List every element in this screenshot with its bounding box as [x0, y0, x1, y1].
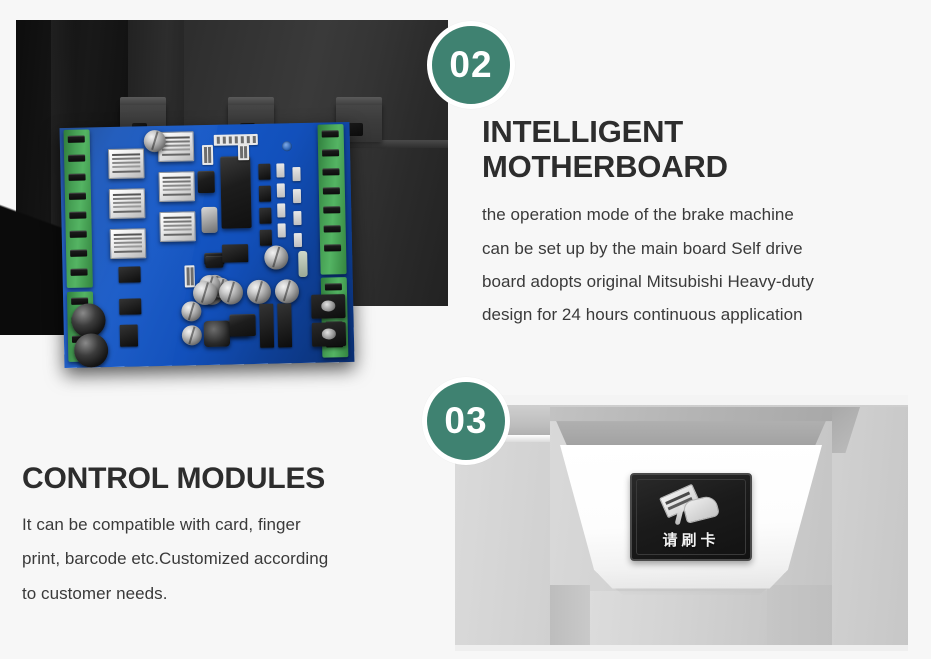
step-badge-02: 02: [427, 21, 515, 109]
section-03-body-line: print, barcode etc.Customized according: [22, 542, 422, 577]
section-03-body: It can be compatible with card, finger p…: [22, 508, 422, 613]
pin-header: [214, 134, 258, 146]
screw-terminal: [311, 294, 345, 319]
section-03-heading-line1: CONTROL MODULES: [22, 462, 422, 496]
soic-ic: [205, 256, 223, 268]
relay: [110, 228, 147, 259]
section-intelligent-motherboard: INTELLIGENT MOTHERBOARD the operation mo…: [482, 115, 902, 331]
transistor: [120, 324, 138, 346]
section-02-body-line: board adopts original Mitsubishi Heavy-d…: [482, 265, 902, 298]
terminal-block-left: [64, 129, 93, 288]
gate-pillar: [587, 591, 769, 651]
step-badge-02-number: 02: [449, 44, 492, 86]
pcb-board: [60, 122, 355, 368]
capacitor: [247, 280, 271, 304]
transistor: [258, 164, 270, 180]
pin-header: [238, 144, 249, 160]
small-ic: [197, 171, 214, 193]
section-02-body-line: the operation mode of the brake machine: [482, 198, 902, 231]
reader-label: 请刷卡: [662, 529, 719, 550]
section-02-heading-line2: MOTHERBOARD: [482, 150, 902, 185]
capacitor: [275, 279, 299, 303]
relay: [108, 148, 145, 179]
capacitor: [182, 325, 202, 345]
transistor: [259, 186, 271, 202]
resistor: [293, 189, 301, 203]
infographic-page: 02 INTELLIGENT MOTHERBOARD the operation…: [0, 0, 931, 659]
turnstile-photo: 请刷卡: [455, 395, 908, 651]
gate-floor-line: [455, 645, 908, 651]
soic-ic: [229, 314, 255, 337]
section-control-modules: CONTROL MODULES It can be compatible wit…: [22, 462, 422, 612]
resistor: [276, 163, 284, 177]
capacitor: [181, 301, 201, 321]
transistor: [118, 266, 140, 282]
capacitor: [219, 280, 243, 304]
transistor: [260, 230, 272, 246]
section-03-body-line: It can be compatible with card, finger: [22, 508, 422, 543]
section-02-body-line: can be set up by the main board Self dri…: [482, 232, 902, 265]
transistor: [119, 298, 141, 314]
resistor: [277, 203, 285, 217]
relay: [159, 211, 196, 242]
crystal-oscillator: [201, 207, 218, 233]
section-03-heading: CONTROL MODULES: [22, 462, 422, 496]
mounting-hole: [282, 141, 292, 151]
fuse: [298, 251, 308, 277]
transistor: [277, 303, 292, 347]
terminal-block-right: [318, 124, 347, 275]
resistor: [277, 183, 285, 197]
step-badge-03-number: 03: [444, 400, 487, 442]
voltage-regulator: [222, 244, 248, 263]
section-02-body: the operation mode of the brake machine …: [482, 198, 902, 331]
resistor: [278, 223, 286, 237]
transistor: [259, 208, 271, 224]
relay: [158, 171, 195, 202]
resistor: [293, 211, 301, 225]
resistor: [292, 167, 300, 181]
step-badge-03: 03: [422, 377, 510, 465]
transistor: [259, 304, 274, 348]
pin-header: [184, 265, 194, 287]
section-02-heading-line1: INTELLIGENT: [482, 115, 902, 150]
gate-column-right: [767, 585, 832, 651]
hand-swiping-card-icon: [660, 486, 722, 526]
pin-header: [202, 145, 213, 165]
dip-ic: [220, 156, 252, 229]
gate-column-left: [550, 585, 590, 651]
gate-left-wall: [455, 442, 551, 651]
section-03-body-line: to customer needs.: [22, 577, 422, 612]
resistor: [294, 233, 302, 247]
section-02-body-line: design for 24 hours continuous applicati…: [482, 298, 902, 331]
card-reader-panel[interactable]: 请刷卡: [630, 473, 752, 561]
section-02-heading: INTELLIGENT MOTHERBOARD: [482, 115, 902, 184]
relay: [109, 188, 146, 219]
inductor: [204, 321, 231, 348]
capacitor: [264, 245, 288, 269]
screw-terminal: [312, 322, 346, 347]
